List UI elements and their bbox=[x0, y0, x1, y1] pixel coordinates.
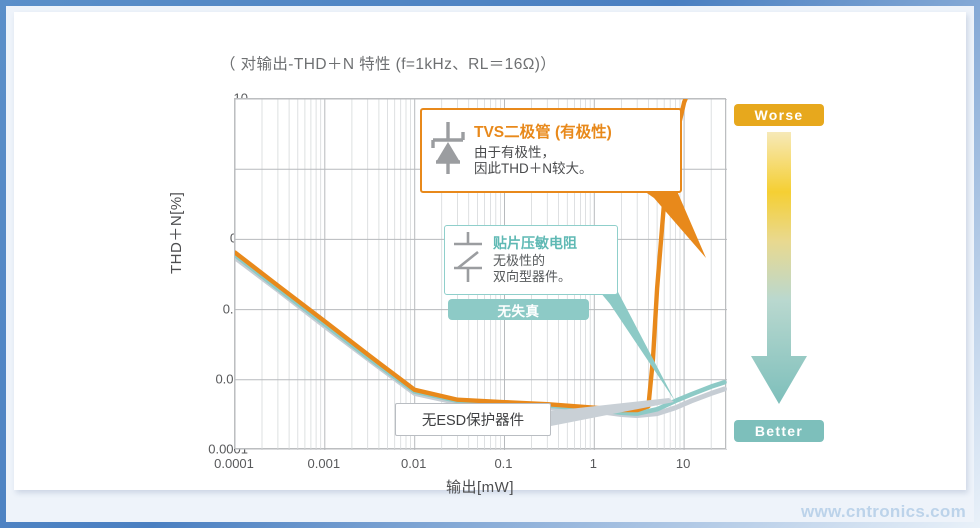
badge-no-distortion: 无失真 bbox=[448, 299, 589, 320]
outer-blue-frame: （ 对输出-THD＋N 特性 (f=1kHz、RL＝16Ω)） THD＋N[%]… bbox=[0, 0, 980, 528]
y-tick-label: 10 bbox=[128, 91, 248, 106]
callout-varistor-title: 贴片压敏电阻 bbox=[493, 235, 611, 253]
y-tick-label: 0.1 bbox=[128, 231, 248, 246]
callout-no-esd-label: 无ESD保护器件 bbox=[422, 409, 524, 430]
scale-chip-better: Better bbox=[734, 420, 824, 442]
callout-varistor-body: 无极性的 双向型器件。 bbox=[493, 253, 611, 285]
scale-better-label: Better bbox=[755, 423, 803, 439]
x-tick-label: 10 bbox=[676, 456, 690, 471]
callout-tvs-title: TVS二极管 (有极性) bbox=[474, 123, 672, 142]
x-tick-label: 0.0001 bbox=[214, 456, 254, 471]
callout-chip-varistor[interactable]: 贴片压敏电阻 无极性的 双向型器件。 bbox=[444, 225, 618, 295]
varistor-symbol-icon bbox=[449, 230, 487, 291]
worse-better-scale: Worse Better bbox=[734, 104, 844, 442]
site-watermark: www.cntronics.com bbox=[801, 502, 966, 522]
x-tick-label: 1 bbox=[590, 456, 597, 471]
gradient-arrow-icon bbox=[734, 104, 844, 442]
diode-symbol-icon bbox=[428, 120, 468, 181]
chart-card: （ 对输出-THD＋N 特性 (f=1kHz、RL＝16Ω)） THD＋N[%]… bbox=[14, 12, 966, 490]
callout-no-esd-device[interactable]: 无ESD保护器件 bbox=[395, 403, 551, 436]
callout-tvs-diode[interactable]: TVS二极管 (有极性) 由于有极性， 因此THD＋N较大。 bbox=[420, 108, 682, 193]
y-tick-label: 0.001 bbox=[128, 371, 248, 386]
x-tick-label: 0.1 bbox=[494, 456, 512, 471]
chart-title: （ 对输出-THD＋N 特性 (f=1kHz、RL＝16Ω)） bbox=[220, 52, 556, 74]
callout-tvs-body: 由于有极性， 因此THD＋N较大。 bbox=[474, 145, 672, 178]
y-tick-label: 1 bbox=[128, 161, 248, 176]
x-tick-label: 0.01 bbox=[401, 456, 426, 471]
y-tick-label: 0.0001 bbox=[128, 442, 248, 457]
y-tick-label: 0.01 bbox=[128, 301, 248, 316]
x-axis-label: 输出[mW] bbox=[446, 476, 514, 497]
badge-no-distortion-label: 无失真 bbox=[498, 300, 540, 320]
x-tick-label: 0.001 bbox=[308, 456, 341, 471]
